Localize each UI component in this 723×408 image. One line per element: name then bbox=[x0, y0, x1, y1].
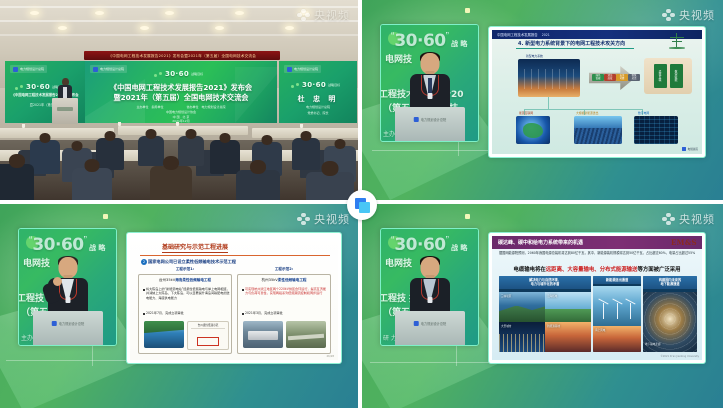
slide-header-year: 2021 bbox=[542, 33, 550, 37]
photo-caption-1: 大规模新能源送出 bbox=[576, 111, 598, 115]
screen-main-badge-tag: 战略目标 bbox=[191, 72, 203, 76]
panel-top-right[interactable]: “30·60”战 略 电网技 工程技术发展报告20 （第五 全国电网技 主办单位… bbox=[362, 0, 723, 200]
slide-page-number: 26/28 bbox=[327, 355, 334, 358]
document-title: 台州柔性低频示范 bbox=[188, 323, 228, 327]
audience-person bbox=[306, 172, 354, 200]
slide-title: 基础研究与示范工程进展 bbox=[162, 242, 228, 253]
result-box: 柔性互联 数字赋能 bbox=[644, 58, 692, 94]
screen-left-logo-text: 电力规划设计总院 bbox=[20, 67, 44, 71]
lectern-logo-text: 电力规划设计总院 bbox=[421, 321, 447, 326]
slide-paragraph: 据国网能源院预测，2060年我国电源总装机将达到80亿千瓦，其中，新能源装机规模… bbox=[499, 251, 697, 256]
photo-digital-grid bbox=[634, 116, 678, 144]
photo-caption-2: 数字电网 bbox=[638, 111, 649, 115]
camera-badge-tag: 战 略 bbox=[89, 244, 105, 252]
screen-main-title-line1: 《中国电网工程技术发展报告2021》发布会 bbox=[85, 83, 277, 93]
camera-lectern: 电力规划设计总院 bbox=[395, 107, 465, 141]
panel-1-label-1: 沿海核电 bbox=[547, 294, 557, 298]
corner-marker bbox=[103, 214, 108, 219]
audience-person bbox=[178, 136, 204, 166]
panel-bottom-right[interactable]: “30·60”战 略 电网技 工程技 报告20 （第五 国电网技 研 力 规 bbox=[362, 204, 723, 408]
screen-main-logo-text: 电力规划设计总院 bbox=[100, 67, 124, 71]
slide-page: 中国电网工程技术发展报告 2021 4. 新型电力系统背景下的电网工程技术攻关方… bbox=[492, 30, 702, 154]
column-2-tag: 工程示范2: bbox=[238, 267, 330, 272]
slide-header-title: 碳达峰、碳中和给电力系统带来的机遇 bbox=[498, 239, 583, 246]
sgcc-mark-icon bbox=[93, 67, 98, 72]
screen-right-speaker-name: 杜 忠 明 bbox=[279, 94, 357, 104]
panel-2-label-0: 海上风电 bbox=[595, 328, 605, 332]
screen-right-speaker-title: 党委书记、院长 bbox=[279, 111, 357, 115]
audience-person bbox=[236, 170, 280, 200]
screen-left-3060-badge: 30·60 战略目标 bbox=[15, 83, 64, 91]
leaf-dots-icon bbox=[154, 72, 163, 77]
slide-panel-1: 解决电力与自然环境、电力与城市化的矛盾 三峡坝区 沿海核电 大型城市 新能源基地 bbox=[499, 276, 591, 352]
photo-island-sea bbox=[144, 321, 184, 348]
screen-right-speaker-org: 电力规划设计总院 bbox=[279, 105, 357, 109]
sgcc-mark-icon bbox=[287, 67, 292, 72]
slide-page: 基础研究与示范工程进展 2 国家电网公司已设立柔性低频输电技术示范工程 工程示范… bbox=[130, 236, 338, 360]
duplicate-overlay-button[interactable] bbox=[347, 190, 377, 220]
speaker-figure bbox=[410, 257, 450, 315]
sgcc-mark-icon bbox=[414, 117, 419, 122]
slide-panel-3: 构建国内未来的地下能源通道 地下输电走廊 bbox=[643, 276, 697, 352]
screen-main-footer-date: 2021年12月 bbox=[85, 119, 277, 123]
column-2-head: 杭州35kV柔性低频输电工程 bbox=[238, 278, 330, 283]
sgcc-mark-icon bbox=[52, 321, 57, 326]
panel-1-label-3: 新能源基地 bbox=[547, 324, 560, 328]
screen-main-logo: 电力规划设计总院 bbox=[90, 65, 127, 73]
slide-footer: ©2021 Xi'an Jiaotong University bbox=[661, 355, 699, 358]
screen-left-badge-number: 30·60 bbox=[26, 83, 50, 91]
sgcc-mark-icon bbox=[682, 147, 686, 151]
transmission-tower-icon bbox=[668, 33, 686, 49]
speaker-camera-inset[interactable]: “30·60”战 略 电网技 工程技 报告20 （第五 国电网技 研 力 规 bbox=[380, 228, 479, 346]
screen-right-logo-text: 电力规划设计总院 bbox=[294, 67, 318, 71]
name-badge bbox=[427, 93, 432, 99]
sgcc-mark-icon bbox=[13, 67, 18, 72]
leaf-dots-icon bbox=[15, 85, 24, 90]
screen-right-badge-number: 30·60 bbox=[302, 81, 326, 89]
leaf-dots-icon bbox=[291, 83, 300, 88]
camera-3060-badge: “30·60”战 略 bbox=[391, 31, 479, 51]
slide-header-title: 中国电网工程技术发展报告 bbox=[497, 32, 538, 37]
speaker-figure bbox=[410, 53, 450, 111]
audience-person bbox=[210, 140, 240, 174]
quote-close: ” bbox=[446, 31, 449, 42]
lead-suffix: 等方面被广泛采用 bbox=[637, 267, 680, 273]
camera-lectern: 电力规划设计总院 bbox=[395, 311, 465, 345]
stage-banner-text: 《中国电网工程技术发展报告2021》发布会暨2021年（第五届）全国电网技术交流… bbox=[108, 53, 256, 59]
stage-screen-main: 电力规划设计总院 30·60 战略目标 《中国电网工程技术发展报告2021》发布… bbox=[85, 61, 277, 123]
slide-corner-logo: 电规总院 bbox=[682, 147, 698, 151]
audience-person bbox=[292, 138, 320, 170]
screen-left-logo: 电力规划设计总院 bbox=[10, 65, 47, 73]
slide-bullet-number: 2 bbox=[141, 259, 147, 265]
screen-main-title-line2: 暨2021年（第五届）全国电网技术交流会 bbox=[85, 93, 277, 103]
screen-main-sub-left: 主办单位 指导单位 bbox=[137, 105, 164, 109]
podium-speaker bbox=[58, 78, 72, 100]
column-2-bullet-1: 2021年3月，完成立项审批 bbox=[245, 311, 329, 315]
photo-renewables bbox=[574, 116, 622, 144]
slide-title-rule bbox=[140, 255, 330, 256]
screen-right-3060-badge: 30·60 战略目标 bbox=[291, 81, 340, 89]
arrow-tag-1: 清洁高效 bbox=[604, 74, 616, 81]
slide-panel-2: 新能源送出通道 海上风电 bbox=[593, 276, 641, 352]
screen-main-sub-org: 中国电力规划设计协会 bbox=[85, 110, 277, 114]
column-1-bullet-1: 2021年7月，完成立项审批 bbox=[146, 311, 230, 315]
slide-display[interactable]: 碳达峰、碳中和给电力系统带来的机遇 EM&S 据国网能源院预测，2060年我国电… bbox=[488, 232, 706, 364]
arrow-tag-3: 智慧灵活 bbox=[628, 74, 640, 81]
photo-offshore-wind bbox=[593, 286, 641, 326]
screen-main-badge-number: 30·60 bbox=[165, 70, 189, 78]
audience-person bbox=[150, 166, 192, 200]
lectern-logo-text: 电力规划设计总院 bbox=[421, 117, 447, 122]
name-badge bbox=[427, 297, 432, 303]
audience-person bbox=[138, 136, 164, 166]
screen-right-badge-tag: 战略目标 bbox=[328, 83, 340, 87]
lectern bbox=[52, 98, 78, 124]
video-grid: 《中国电网工程技术发展报告2021》发布会暨2021年（第五届）全国电网技术交流… bbox=[0, 0, 723, 408]
stage-screen-right: 电力规划设计总院 30·60 战略目标 杜 忠 明 电力规划设计总院 党委书记、… bbox=[279, 61, 357, 123]
arrow-tag-2: 安全可靠 bbox=[616, 74, 628, 81]
panel-3-label-0: 地下输电走廊 bbox=[645, 342, 661, 346]
slide-display[interactable]: 基础研究与示范工程进展 2 国家电网公司已设立柔性低频输电技术示范工程 工程示范… bbox=[126, 232, 342, 364]
speaker-camera-inset[interactable]: “30·60”战 略 电网技 工程技 告20 （第五 电网技 主办 力 规 bbox=[18, 228, 117, 346]
speaker-camera-inset[interactable]: “30·60”战 略 电网技 工程技术发展报告20 （第五 全国电网技 主办单位… bbox=[380, 24, 479, 142]
photo-caption-0: 能源互联网 bbox=[519, 111, 533, 115]
camera-badge-tag: 战 略 bbox=[451, 244, 467, 252]
result-box-item-0: 柔性互联 bbox=[654, 64, 667, 88]
name-badge bbox=[65, 297, 70, 303]
panel-bottom-left[interactable]: “30·60”战 略 电网技 工程技 告20 （第五 电网技 主办 力 规 bbox=[0, 204, 358, 408]
speaker-figure bbox=[48, 257, 88, 315]
panel-3-caption: 构建国内未来的地下能源通道 bbox=[643, 276, 697, 289]
panel-1-label-0: 三峡坝区 bbox=[501, 294, 511, 298]
audience-person bbox=[0, 164, 34, 200]
slide-corner-logo-text: 电规总院 bbox=[688, 147, 698, 151]
panel-1-caption: 解决电力与自然环境、电力与城市化的矛盾 bbox=[499, 276, 591, 289]
photo-power-grid bbox=[518, 59, 580, 97]
slide-lead-line: 电缆输电将在远距离、大容量输电、分布式能源输送等方面被广泛采用 bbox=[492, 265, 702, 273]
screen-main-sub-right: 协办单位 电力规划设计总院 bbox=[186, 105, 225, 109]
slide-title: 4. 新型电力系统背景下的电网工程技术攻关方向 bbox=[518, 40, 625, 47]
sgcc-mark-icon bbox=[414, 321, 419, 326]
lead-prefix: 电缆输电将在 bbox=[513, 267, 545, 273]
column-1-bullet-0: 将大陈岛上的“新能源电站”经柔性低频输电与岸上电网相连，并消纳上大陈岛、下大陈岛… bbox=[146, 287, 230, 300]
camera-badge-number: 30·60 bbox=[394, 31, 445, 51]
screen-right-logo: 电力规划设计总院 bbox=[284, 65, 321, 73]
result-box-item-1: 数字赋能 bbox=[670, 64, 683, 88]
corner-marker bbox=[465, 214, 470, 219]
audience-person bbox=[96, 138, 124, 170]
photo-caption-top: 新型电力系统 bbox=[526, 54, 543, 58]
slide-column-2: 工程示范2: 杭州35kV柔性低频输电工程 可实现杭州滨江地区两个220kV供区… bbox=[237, 274, 331, 354]
camera-3060-badge: “30·60”战 略 bbox=[29, 235, 117, 255]
slide-bullet-text: 国家电网公司已设立柔性低频输电技术示范工程 bbox=[148, 259, 236, 265]
photo-approval-document: 台州柔性低频示范 bbox=[187, 321, 229, 350]
photo-construction-site bbox=[286, 321, 326, 348]
photo-converter-station bbox=[243, 321, 283, 348]
slide-title-underline bbox=[516, 48, 634, 49]
corner-marker bbox=[465, 8, 470, 13]
stage-red-banner: 《中国电网工程技术发展报告2021》发布会暨2021年（第五届）全国电网技术交流… bbox=[84, 51, 280, 60]
camera-3060-badge: “30·60”战 略 bbox=[391, 235, 479, 255]
column-1-tag: 工程示范1: bbox=[139, 267, 231, 272]
duplicate-squares-icon bbox=[355, 198, 370, 213]
panel-top-left[interactable]: 《中国电网工程技术发展报告2021》发布会暨2021年（第五届）全国电网技术交流… bbox=[0, 0, 358, 200]
screen-main-3060-badge: 30·60 战略目标 bbox=[154, 70, 203, 78]
panel-1-label-2: 大型城市 bbox=[501, 324, 511, 328]
lead-highlight: 远距离、大容量输电、分布式能源输送 bbox=[546, 267, 638, 273]
column-2-bullet-0: 可实现杭州滨江地区两个220kV供区合环运行，提高互济能力与负荷可靠性，实现两段… bbox=[245, 287, 329, 296]
column-1-head: 台州35kV海岛柔性低频输电工程 bbox=[139, 278, 231, 283]
photo-energy-internet bbox=[516, 116, 550, 144]
ems-logo: EM&S bbox=[671, 238, 697, 247]
camera-badge-number: 30·60 bbox=[394, 235, 445, 255]
slide-column-1: 工程示范1: 台州35kV海岛柔性低频输电工程 将大陈岛上的“新能源电站”经柔性… bbox=[138, 274, 232, 354]
slide-page: 碳达峰、碳中和给电力系统带来的机遇 EM&S 据国网能源院预测，2060年我国电… bbox=[492, 236, 702, 360]
audience-person bbox=[72, 168, 112, 200]
camera-lectern: 电力规划设计总院 bbox=[33, 311, 103, 345]
camera-badge-number: 30·60 bbox=[32, 235, 83, 255]
camera-badge-tag: 战 略 bbox=[451, 40, 467, 48]
lectern-logo-text: 电力规划设计总院 bbox=[59, 321, 85, 326]
audience-person bbox=[30, 140, 60, 174]
arrow-tag-0: 绿色低碳 bbox=[592, 74, 604, 81]
conference-room-scene: 《中国电网工程技术发展报告2021》发布会暨2021年（第五届）全国电网技术交流… bbox=[0, 0, 358, 200]
document-highlight-box bbox=[197, 337, 219, 346]
slide-display[interactable]: 中国电网工程技术发展报告 2021 4. 新型电力系统背景下的电网工程技术攻关方… bbox=[488, 26, 706, 158]
panel-2-caption: 新能源送出通道 bbox=[593, 276, 641, 284]
